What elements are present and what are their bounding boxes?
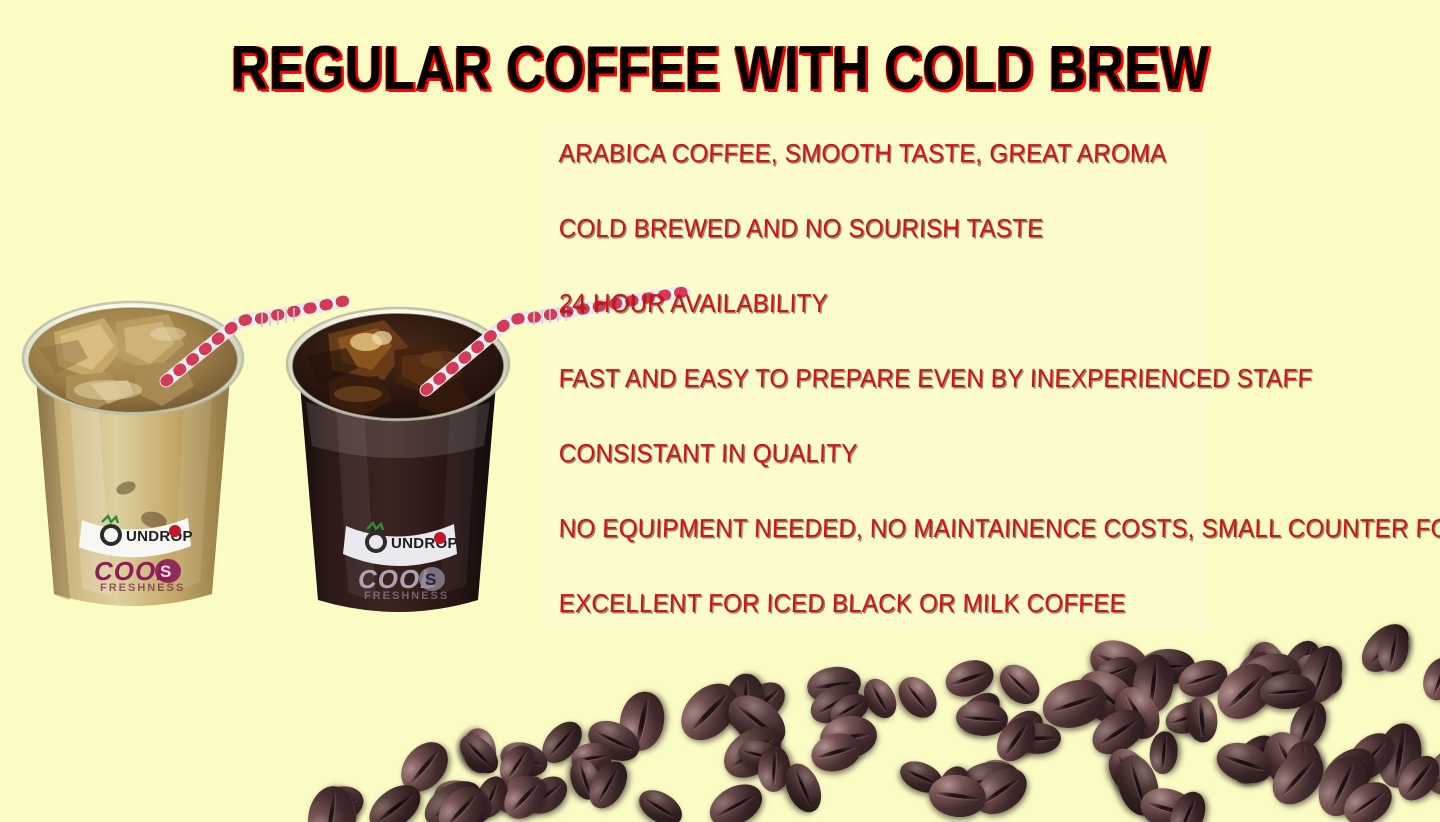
coffee-bean: [452, 728, 504, 780]
svg-text:S: S: [160, 562, 171, 581]
coffee-bean: [392, 733, 458, 801]
coffee-bean: [496, 736, 551, 781]
coffee-bean: [569, 740, 614, 776]
cold-brew-cup: UNDROP COOL S FRESHNESS: [272, 294, 524, 624]
feature-item: ARABICA COFFEE, SMOOTH TASTE, GREAT AROM…: [557, 140, 1378, 215]
coffee-bean: [1084, 700, 1152, 763]
cool-freshness-label: COOL S FRESHNESS: [358, 564, 449, 602]
feature-item: FAST AND EASY TO PREPARE EVEN BY INEXPER…: [557, 365, 1378, 440]
coffee-bean: [825, 687, 874, 730]
coffee-bean: [931, 761, 975, 812]
coffee-bean: [735, 736, 784, 773]
feature-item: NO EQUIPMENT NEEDED, NO MAINTAINENCE COS…: [557, 515, 1378, 590]
coffee-bean: [519, 768, 574, 821]
coffee-bean: [633, 783, 688, 822]
coffee-bean: [974, 753, 1027, 800]
coffee-bean: [1417, 735, 1440, 806]
coffee-bean: [959, 759, 1022, 802]
coffee-bean: [817, 712, 879, 761]
coffee-bean: [1148, 730, 1179, 775]
coffee-bean: [779, 758, 828, 817]
coffee-bean: [416, 772, 490, 822]
coffee-bean: [470, 772, 513, 822]
coffee-bean: [582, 755, 635, 815]
page-title: REGULAR COFFEE WITH COLD BREW: [115, 38, 1325, 100]
feature-list: ARABICA COFFEE, SMOOTH TASTE, GREAT AROM…: [558, 140, 1438, 665]
coffee-bean: [361, 776, 429, 822]
coffee-bean: [490, 769, 552, 821]
coffee-bean: [1161, 697, 1212, 739]
feature-item: EXCELLENT FOR ICED BLACK OR MILK COFFEE: [557, 590, 1378, 665]
coffee-bean: [565, 755, 604, 803]
svg-text:UNDROP: UNDROP: [126, 528, 193, 545]
coffee-bean: [323, 788, 360, 822]
coffee-bean: [671, 673, 749, 751]
coffee-bean: [1336, 773, 1399, 822]
coffee-bean: [1309, 748, 1376, 822]
svg-text:FRESHNESS: FRESHNESS: [364, 590, 449, 602]
coffee-bean: [966, 758, 1036, 822]
coffee-bean: [1106, 680, 1168, 747]
coffee-bean: [429, 777, 493, 822]
coffee-bean: [723, 672, 766, 732]
coffee-bean: [1135, 782, 1200, 822]
feature-item: COLD BREWED AND NO SOURISH TASTE: [557, 215, 1378, 290]
coffee-bean: [952, 686, 1007, 739]
coffee-bean: [1212, 736, 1278, 790]
coffee-bean: [1110, 750, 1165, 821]
feature-item: 24 HOUR AVAILABILITY: [557, 290, 1378, 365]
coffee-bean: [1184, 695, 1219, 744]
coffee-bean: [1254, 723, 1326, 803]
coffee-bean: [493, 739, 541, 790]
coffee-bean: [954, 699, 1009, 738]
coffee-bean: [1014, 722, 1061, 754]
svg-text:S: S: [425, 570, 436, 589]
milk-coffee-cup: UNDROP COOL S FRESHNESS: [8, 288, 258, 618]
coffee-bean: [311, 780, 368, 822]
coffee-bean: [495, 768, 553, 822]
coffee-bean: [895, 755, 947, 799]
coffee-bean: [989, 710, 1043, 768]
coffee-bean: [1224, 727, 1286, 792]
coffee-bean: [756, 745, 790, 793]
coffee-bean: [535, 714, 590, 770]
coffee-bean: [1339, 724, 1403, 788]
coffee-bean: [994, 702, 1051, 761]
svg-text:UNDROP: UNDROP: [391, 535, 458, 552]
coffee-bean: [807, 728, 865, 777]
coffee-bean: [1262, 742, 1333, 814]
coffee-bean: [719, 685, 795, 757]
coffee-bean: [427, 772, 498, 822]
coffee-bean: [1283, 695, 1333, 754]
coffee-bean: [1259, 672, 1318, 711]
coffee-bean: [1285, 740, 1323, 790]
coffee-bean: [1312, 739, 1385, 811]
coffee-bean: [702, 776, 769, 822]
coffee-bean: [1068, 660, 1148, 736]
coffee-bean: [1036, 672, 1111, 735]
coffee-promo-poster: REGULAR COFFEE WITH COLD BREW: [0, 0, 1440, 822]
coffee-bean: [304, 783, 359, 822]
coffee-bean: [891, 670, 945, 726]
coffee-bean: [614, 687, 669, 755]
coffee-bean: [857, 673, 903, 724]
coffee-bean: [582, 713, 646, 769]
coffee-bean: [805, 664, 864, 707]
coffee-bean: [460, 726, 499, 775]
svg-text:FRESHNESS: FRESHNESS: [100, 582, 185, 594]
coffee-bean: [1390, 748, 1440, 809]
coffee-bean: [927, 771, 989, 820]
coffee-bean: [715, 717, 791, 788]
coffee-bean: [737, 675, 793, 729]
coffee-bean: [804, 677, 865, 731]
feature-item: CONSISTANT IN QUALITY: [557, 440, 1378, 515]
coffee-bean: [1163, 786, 1212, 822]
coffee-bean: [1100, 741, 1159, 803]
coffee-bean: [1373, 719, 1426, 790]
cool-freshness-label: COOL S FRESHNESS: [94, 556, 185, 594]
